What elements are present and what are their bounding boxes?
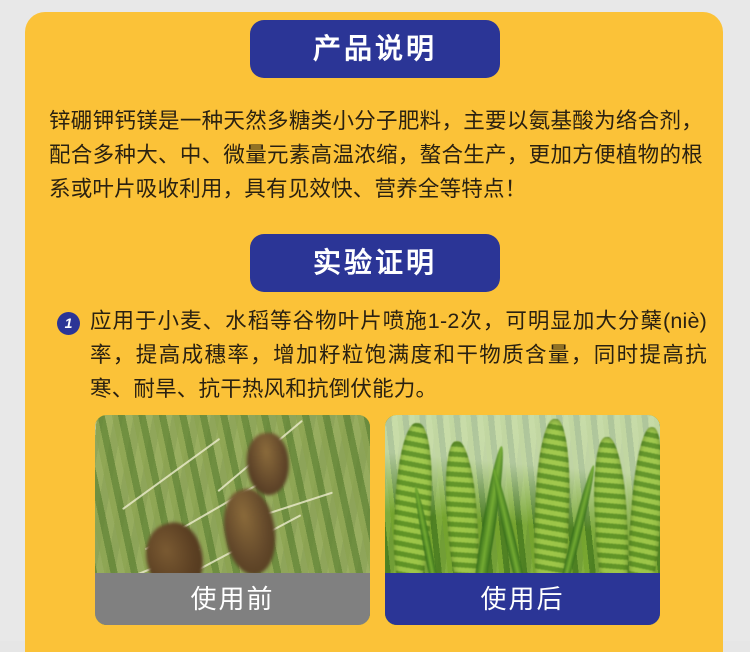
product-description-paragraph: 锌硼钾钙镁是一种天然多糖类小分子肥料，主要以氨基酸为络合剂，配合多种大、中、微量… [49, 104, 703, 206]
before-after-comparison: 使用前 使用后 [95, 415, 661, 625]
product-info-card: 产品说明 锌硼钾钙镁是一种天然多糖类小分子肥料，主要以氨基酸为络合剂，配合多种大… [25, 12, 723, 652]
comparison-card-after: 使用后 [385, 415, 660, 625]
list-item-number-badge: 1 [57, 312, 80, 335]
section-heading-product-description: 产品说明 [250, 20, 500, 78]
caption-before: 使用前 [95, 573, 370, 625]
section-heading-experiment-proof: 实验证明 [250, 234, 500, 292]
disease-lesion [217, 485, 284, 580]
product-detail-page: 产品说明 锌硼钾钙镁是一种天然多糖类小分子肥料，主要以氨基酸为络合剂，配合多种大… [0, 0, 750, 641]
comparison-card-before: 使用前 [95, 415, 370, 625]
experiment-list-item: 1 应用于小麦、水稻等谷物叶片喷施1-2次，可明显加大分蘖(niè)率，提高成穗… [57, 304, 707, 406]
caption-after: 使用后 [385, 573, 660, 625]
list-item-text: 应用于小麦、水稻等谷物叶片喷施1-2次，可明显加大分蘖(niè)率，提高成穗率，… [90, 304, 707, 406]
